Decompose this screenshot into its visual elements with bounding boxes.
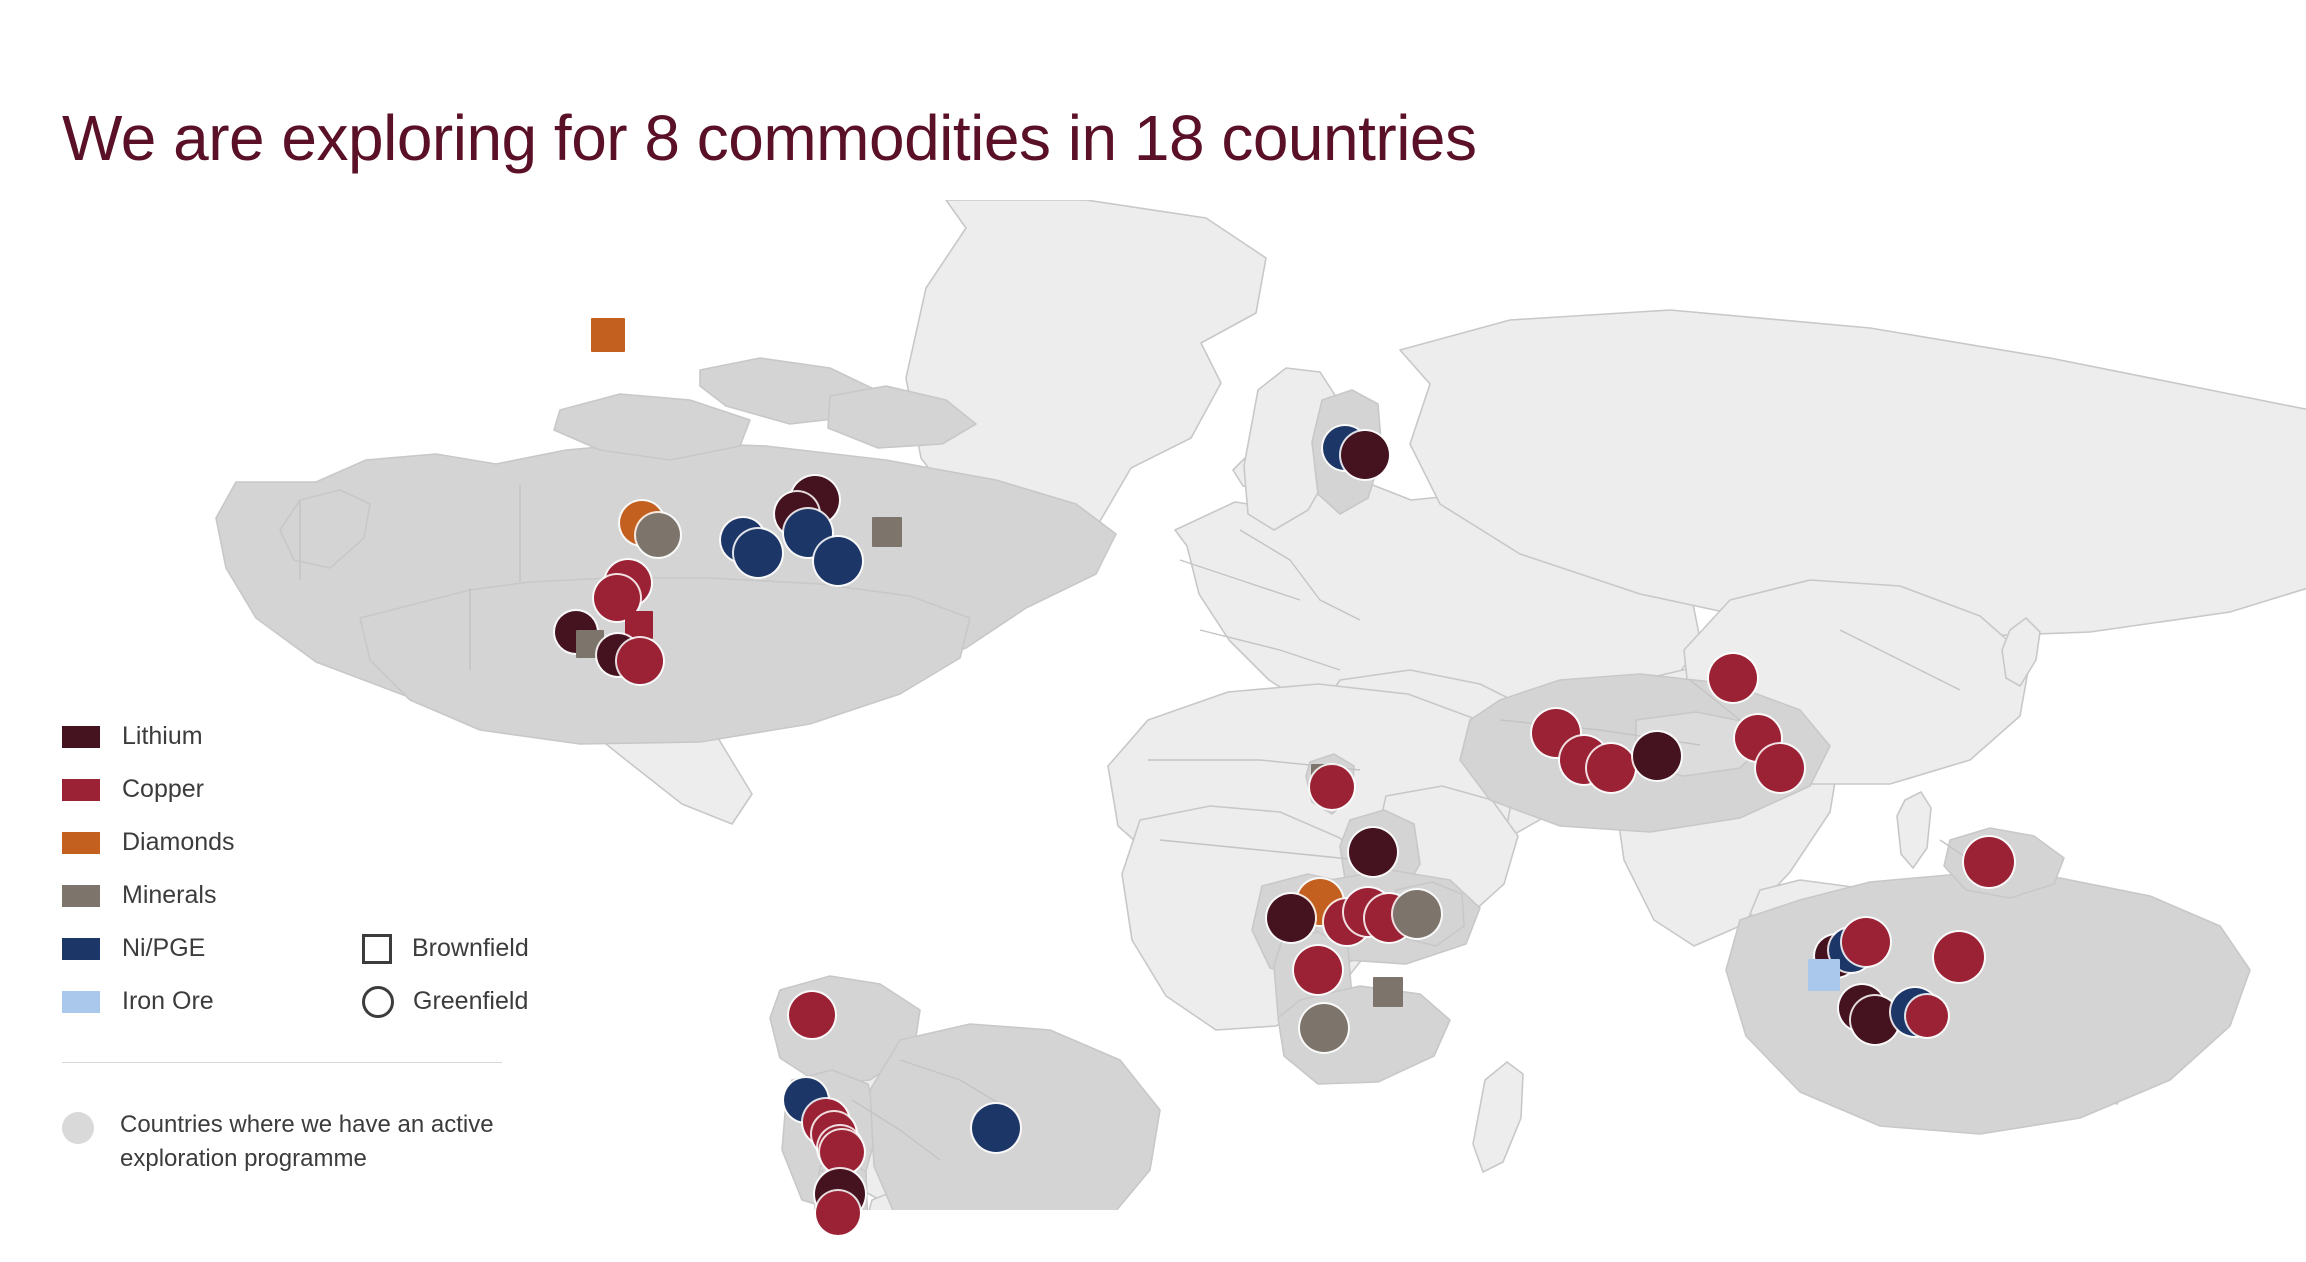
legend-item-lithium[interactable]: Lithium xyxy=(62,710,522,763)
map-marker-copper-greenfield[interactable] xyxy=(1756,744,1804,792)
legend-label: Copper xyxy=(122,775,204,804)
active-country-note-text: Countries where we have an active explor… xyxy=(120,1108,582,1176)
map-marker-nipge-greenfield[interactable] xyxy=(972,1104,1020,1152)
map-marker-copper-greenfield[interactable] xyxy=(1294,946,1342,994)
legend-item-brownfield[interactable]: Brownfield xyxy=(362,934,529,964)
map-marker-copper-greenfield[interactable] xyxy=(1310,765,1354,809)
nipge-swatch xyxy=(62,938,100,960)
legend-item-copper[interactable]: Copper xyxy=(62,763,522,816)
map-marker-copper-greenfield[interactable] xyxy=(820,1130,864,1174)
legend-divider xyxy=(62,1062,502,1063)
page-title: We are exploring for 8 commodities in 18… xyxy=(62,105,1477,172)
map-marker-lithium-greenfield[interactable] xyxy=(1349,828,1397,876)
map-marker-diamonds-brownfield[interactable] xyxy=(591,318,625,352)
slide-root: We are exploring for 8 commodities in 18… xyxy=(0,0,2306,1262)
map-marker-nipge-greenfield[interactable] xyxy=(814,537,862,585)
minerals-swatch xyxy=(62,885,100,907)
legend-item-minerals[interactable]: Minerals xyxy=(62,869,522,922)
map-marker-copper-greenfield[interactable] xyxy=(1587,744,1635,792)
legend: Lithium Copper Diamonds Minerals Ni/PGE … xyxy=(62,710,522,1028)
legend-item-nipge[interactable]: Ni/PGE Brownfield xyxy=(62,922,522,975)
lithium-swatch xyxy=(62,726,100,748)
map-marker-ironore-brownfield[interactable] xyxy=(1808,959,1840,991)
legend-item-diamonds[interactable]: Diamonds xyxy=(62,816,522,869)
map-marker-lithium-greenfield[interactable] xyxy=(1341,431,1389,479)
legend-label: Greenfield xyxy=(413,987,528,1016)
map-marker-copper-greenfield[interactable] xyxy=(789,992,835,1038)
legend-label: Iron Ore xyxy=(122,987,214,1016)
map-marker-copper-greenfield[interactable] xyxy=(1709,654,1757,702)
diamonds-swatch xyxy=(62,832,100,854)
map-marker-lithium-greenfield[interactable] xyxy=(1633,732,1681,780)
map-marker-copper-greenfield[interactable] xyxy=(1906,995,1948,1037)
map-marker-minerals-greenfield[interactable] xyxy=(636,513,680,557)
map-marker-nipge-greenfield[interactable] xyxy=(734,529,782,577)
map-marker-copper-brownfield[interactable] xyxy=(625,611,653,639)
greenfield-circle-icon xyxy=(362,986,394,1018)
legend-item-ironore[interactable]: Iron Ore Greenfield xyxy=(62,975,522,1028)
map-marker-minerals-brownfield[interactable] xyxy=(872,517,902,547)
map-marker-minerals-brownfield[interactable] xyxy=(1373,977,1403,1007)
map-marker-copper-greenfield[interactable] xyxy=(816,1191,860,1235)
map-marker-copper-greenfield[interactable] xyxy=(1842,918,1890,966)
copper-swatch xyxy=(62,779,100,801)
ironore-swatch xyxy=(62,991,100,1013)
active-country-note: Countries where we have an active explor… xyxy=(62,1108,582,1176)
legend-item-greenfield[interactable]: Greenfield xyxy=(362,986,528,1018)
grey-country-dot-icon xyxy=(62,1112,94,1144)
map-marker-minerals-greenfield[interactable] xyxy=(1300,1004,1348,1052)
legend-label: Ni/PGE xyxy=(122,934,205,963)
map-marker-copper-greenfield[interactable] xyxy=(617,638,663,684)
legend-label: Minerals xyxy=(122,881,216,910)
map-marker-copper-greenfield[interactable] xyxy=(1964,837,2014,887)
legend-label: Brownfield xyxy=(412,934,529,963)
map-marker-lithium-greenfield[interactable] xyxy=(1267,894,1315,942)
brownfield-square-icon xyxy=(362,934,392,964)
map-marker-minerals-greenfield[interactable] xyxy=(1393,890,1441,938)
legend-label: Diamonds xyxy=(122,828,235,857)
map-markers-layer xyxy=(0,200,2306,1210)
legend-label: Lithium xyxy=(122,722,203,751)
map-marker-copper-greenfield[interactable] xyxy=(1934,932,1984,982)
